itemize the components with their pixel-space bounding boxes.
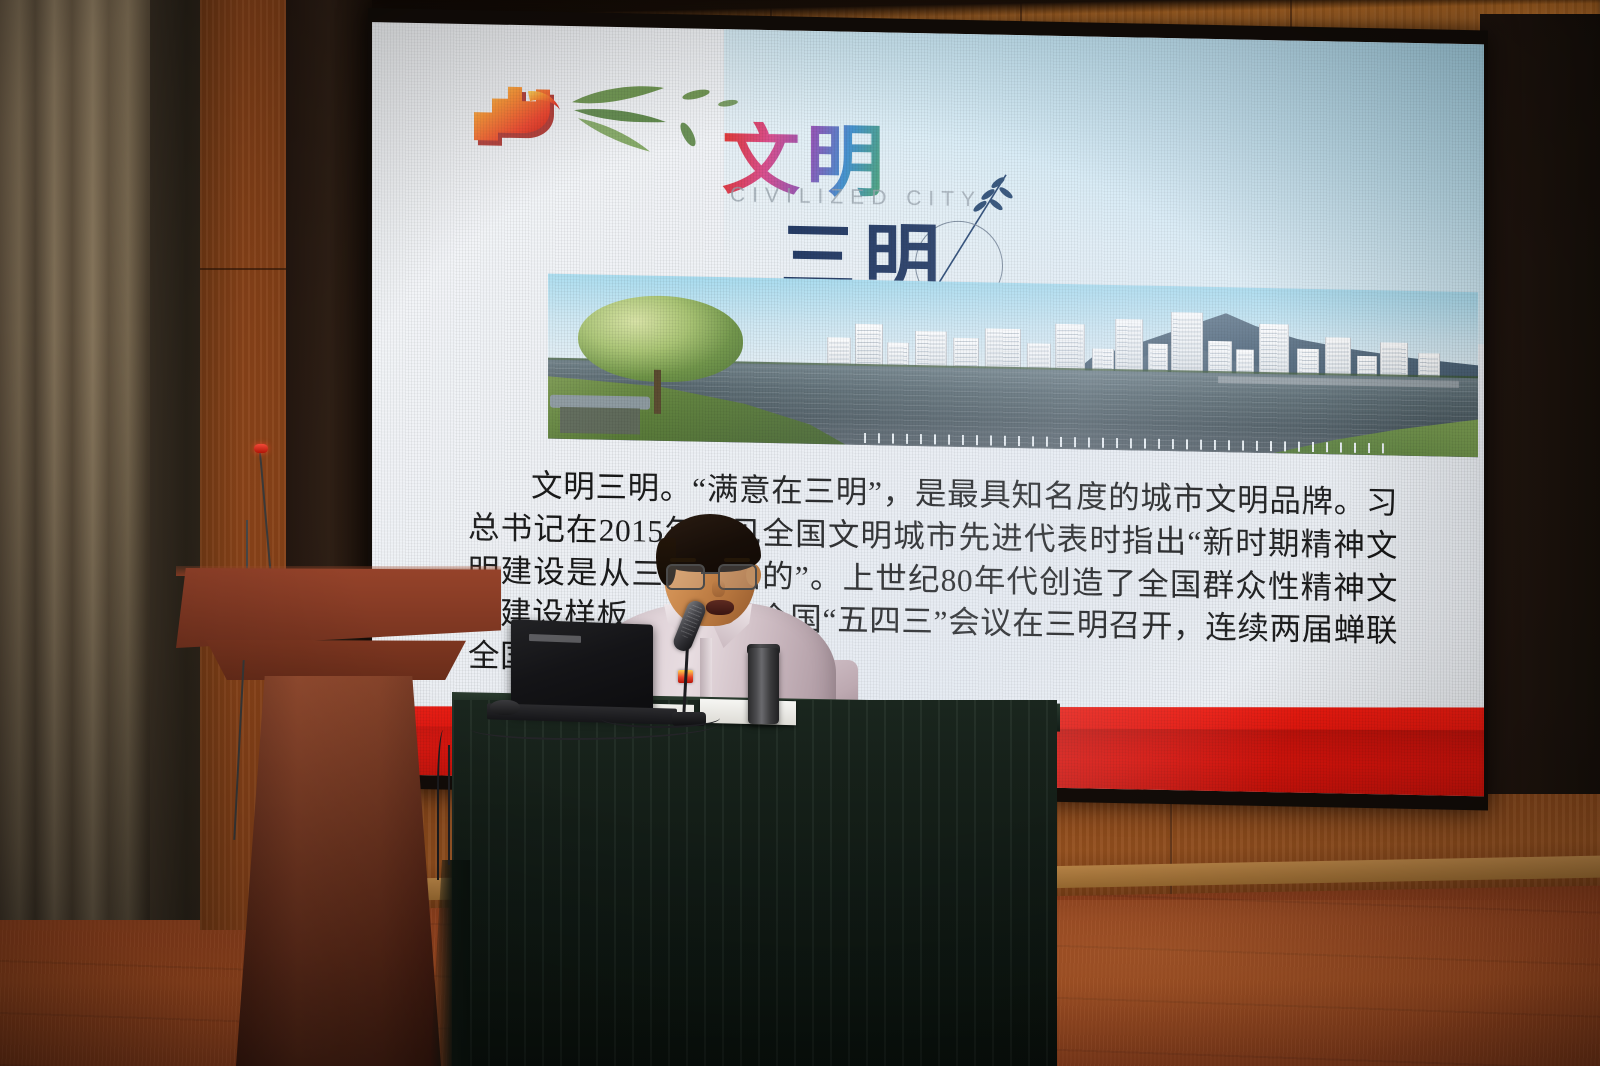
lectern-body <box>236 676 441 1066</box>
conference-table-skirt <box>452 700 1057 1066</box>
gooseneck-microphone[interactable] <box>248 444 288 574</box>
microphone-capsule-icon <box>671 598 708 653</box>
stage-curtain <box>0 0 160 920</box>
table-cable-secondary <box>600 708 720 728</box>
cpc-party-emblem-icon <box>464 70 574 152</box>
screen-frame-right <box>1480 14 1600 794</box>
slide-title-english: CIVILIZED CITY <box>730 183 982 212</box>
microphone-head-icon <box>254 444 268 453</box>
city-riverfront-photo <box>548 274 1478 458</box>
vacuum-flask[interactable] <box>748 648 779 724</box>
hanging-cable-secondary <box>448 745 460 865</box>
lecture-hall-scene: 文明 CIVILIZED CITY 三明 <box>0 0 1600 1066</box>
presenter-eyebrow-right <box>724 558 750 562</box>
presenter-nose <box>712 580 725 597</box>
presenter-eyebrow-left <box>670 558 696 562</box>
laptop-brand-logo <box>529 634 581 643</box>
desk-microphone[interactable] <box>672 600 716 725</box>
lectern-neck <box>206 640 466 680</box>
riverside-pavilion <box>554 395 646 435</box>
